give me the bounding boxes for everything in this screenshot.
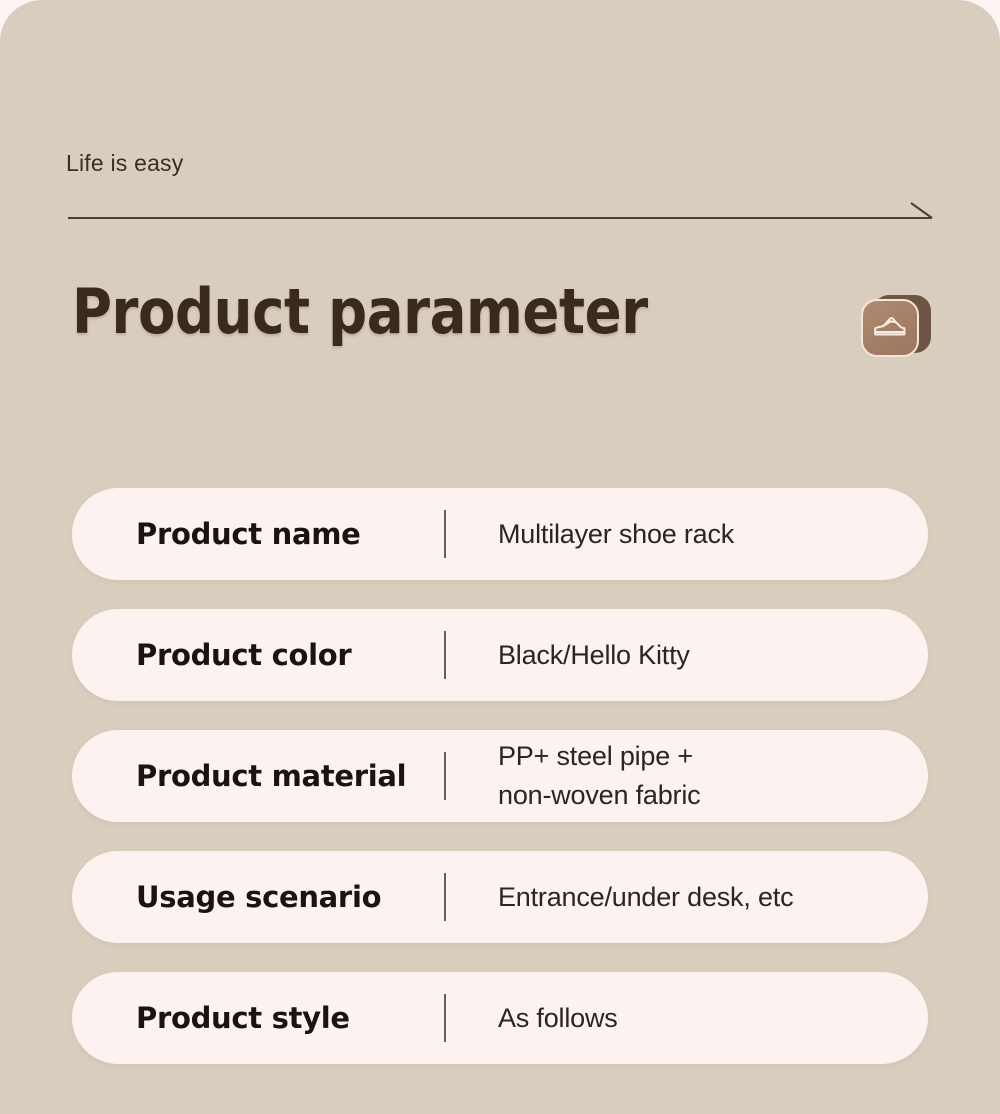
row-value: Multilayer shoe rack	[446, 519, 928, 550]
table-row: Product style As follows	[72, 972, 928, 1064]
shoe-badge	[861, 290, 931, 360]
arrow-rule	[68, 196, 934, 232]
table-row: Product name Multilayer shoe rack	[72, 488, 928, 580]
parameter-card: Life is easy Product parameter	[0, 0, 1000, 1114]
table-row: Product material PP+ steel pipe + non-wo…	[72, 730, 928, 822]
table-row: Product color Black/Hello Kitty	[72, 609, 928, 701]
row-value: Black/Hello Kitty	[446, 640, 928, 671]
shoe-icon	[873, 315, 907, 341]
page-title: Product parameter	[72, 281, 648, 343]
row-value: Entrance/under desk, etc	[446, 882, 928, 913]
row-label: Product style	[72, 1001, 444, 1035]
row-label: Product color	[72, 638, 444, 672]
row-label: Product material	[72, 759, 444, 793]
row-value-line2: non-woven fabric	[498, 778, 928, 813]
row-value-line1: PP+ steel pipe +	[498, 741, 693, 771]
row-label: Product name	[72, 517, 444, 551]
spec-table: Product name Multilayer shoe rack Produc…	[72, 488, 928, 1064]
product-parameter-page: Life is easy Product parameter	[0, 0, 1000, 1114]
row-label: Usage scenario	[72, 880, 444, 914]
eyebrow-text: Life is easy	[66, 150, 183, 177]
row-value: PP+ steel pipe + non-woven fabric	[446, 739, 928, 812]
table-row: Usage scenario Entrance/under desk, etc	[72, 851, 928, 943]
row-value: As follows	[446, 1003, 928, 1034]
badge-front	[861, 299, 919, 357]
